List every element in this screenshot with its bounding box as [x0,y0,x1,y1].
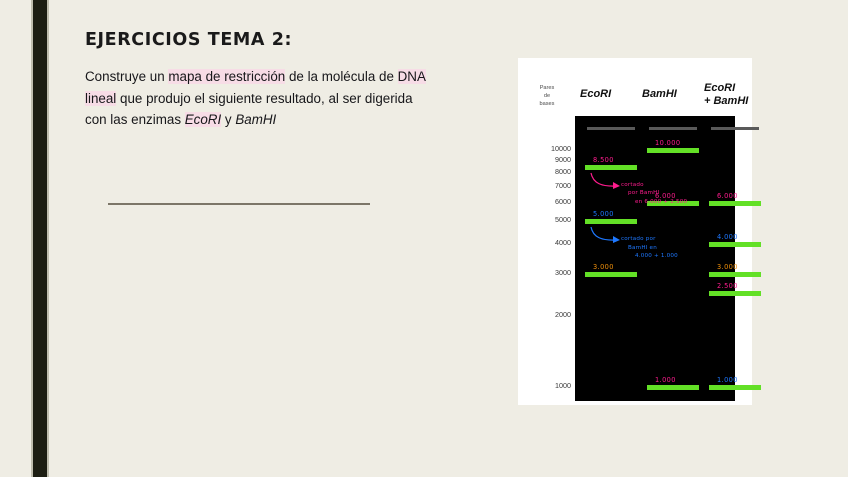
band-label: 1.000 [717,376,738,384]
annotation-arrow [589,171,623,191]
body-run-5: EcoRI [185,112,221,127]
band-label: 1.000 [655,376,676,384]
gel-figure-card: Pares de bases 1000090008000700060005000… [518,58,752,405]
annotation-line: BamHI en [628,244,678,253]
lane-header-line: + BamHI [704,95,748,108]
annotation-line: por BamHI [628,189,687,198]
y-tick-9000: 9000 [523,155,571,164]
annotation-line: cortado por [621,235,678,244]
accent-bar-edge-right [47,0,49,477]
y-tick-1000: 1000 [523,381,571,390]
annotation-arrow [589,225,623,245]
gel-well-1 [649,127,697,130]
annotation-line: cortado [621,181,687,190]
lane-header-lane-ecori-bamhi: EcoRI+ BamHI [704,82,748,108]
y-axis-ticks: 1000090008000700060005000400030002000100… [518,58,571,405]
gel-band [709,385,761,390]
body-run-2: de la molécula de [285,69,397,84]
band-label: 8.500 [593,156,614,164]
gel-band [709,272,761,277]
body-run-6: y [221,112,235,127]
band-label: 2.500 [717,282,738,290]
gel-band [709,201,761,206]
y-tick-7000: 7000 [523,181,571,190]
gel-band [647,385,699,390]
gel-band [585,219,637,224]
band-label: 3.000 [717,263,738,271]
annotation-line: en 6.000 + 2.500 [635,198,687,207]
lane-header-lane-bamhi: BamHI [642,88,677,101]
divider [108,203,370,205]
y-tick-6000: 6000 [523,197,571,206]
annotation-line: 4.000 + 1.000 [635,252,678,261]
y-tick-3000: 3000 [523,268,571,277]
slide: EJERCICIOS TEMA 2: Construye un mapa de … [0,0,848,477]
band-label: 5.000 [593,210,614,218]
band-label: 3.000 [593,263,614,271]
gel-well-2 [711,127,759,130]
gel-area: 8.5005.0003.00010.0006.0001.0006.0004.00… [575,116,735,401]
gel-band [647,148,699,153]
lane-header-line: BamHI [642,88,677,101]
y-tick-10000: 10000 [523,144,571,153]
accent-bar [33,0,47,477]
gel-band [709,291,761,296]
annotation-blue: cortado porBamHI en4.000 + 1.000 [621,235,678,261]
gel-band [709,242,761,247]
gel-well-0 [587,127,635,130]
lane-header-lane-ecori: EcoRI [580,88,611,101]
y-tick-5000: 5000 [523,215,571,224]
body-run-7: BamHI [235,112,276,127]
page-title: EJERCICIOS TEMA 2: [85,30,292,50]
band-label: 4.000 [717,233,738,241]
body-run-1: mapa de restricción [168,69,285,84]
y-tick-4000: 4000 [523,238,571,247]
gel-band [585,272,637,277]
body-text: Construye un mapa de restricción de la m… [85,66,435,131]
lane-header-line: EcoRI [580,88,611,101]
annotation-pink: cortadopor BamHIen 6.000 + 2.500 [621,181,687,207]
gel-band [585,165,637,170]
lane-header-line: EcoRI [704,82,748,95]
y-tick-8000: 8000 [523,167,571,176]
band-label: 6.000 [717,192,738,200]
band-label: 10.000 [655,139,680,147]
body-run-0: Construye un [85,69,168,84]
y-tick-2000: 2000 [523,310,571,319]
